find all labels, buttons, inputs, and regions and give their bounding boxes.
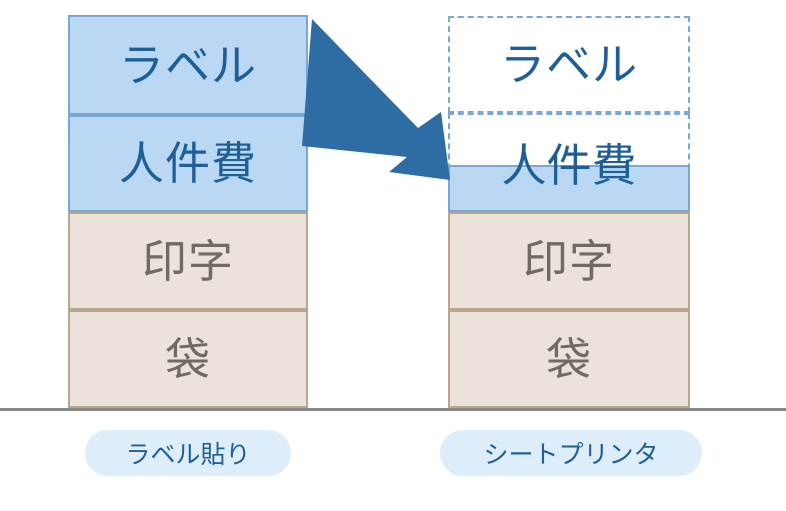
segment-printing-text: 印字: [142, 239, 234, 284]
segment-printing: 印字: [448, 212, 690, 310]
segment-labor-text: 人件費: [119, 141, 257, 186]
segment-bag-text: 袋: [546, 337, 592, 382]
column-sheet-printer: ラベル 人件費 印字 袋: [448, 0, 690, 408]
column-label-pasting: ラベル 人件費 印字 袋: [68, 0, 308, 408]
segment-label-removed-text: ラベル: [500, 42, 638, 87]
baseline-axis: [0, 408, 786, 411]
segment-printing-text: 印字: [523, 239, 615, 284]
diagram-canvas: ラベル 人件費 印字 袋 ラベル 人件費 印字 袋: [0, 0, 786, 511]
segment-printing: 印字: [68, 212, 308, 310]
segment-labor-reduced-text: 人件費: [501, 129, 636, 194]
segment-label: ラベル: [68, 15, 308, 115]
segment-label-text: ラベル: [119, 43, 257, 88]
pill-label-pasting: ラベル貼り: [85, 430, 291, 476]
segment-labor: 人件費: [68, 115, 308, 212]
segment-label-removed: ラベル: [448, 16, 690, 113]
reduction-arrow-icon: [302, 19, 450, 180]
segment-bag-text: 袋: [165, 337, 211, 382]
pill-sheet-printer: シートプリンタ: [440, 430, 702, 476]
segment-bag: 袋: [68, 310, 308, 408]
segment-bag: 袋: [448, 310, 690, 408]
segment-labor-reduced-text-wrap: 人件費: [448, 113, 690, 210]
pill-label-pasting-text: ラベル貼り: [125, 435, 250, 471]
pill-sheet-printer-text: シートプリンタ: [483, 435, 658, 471]
